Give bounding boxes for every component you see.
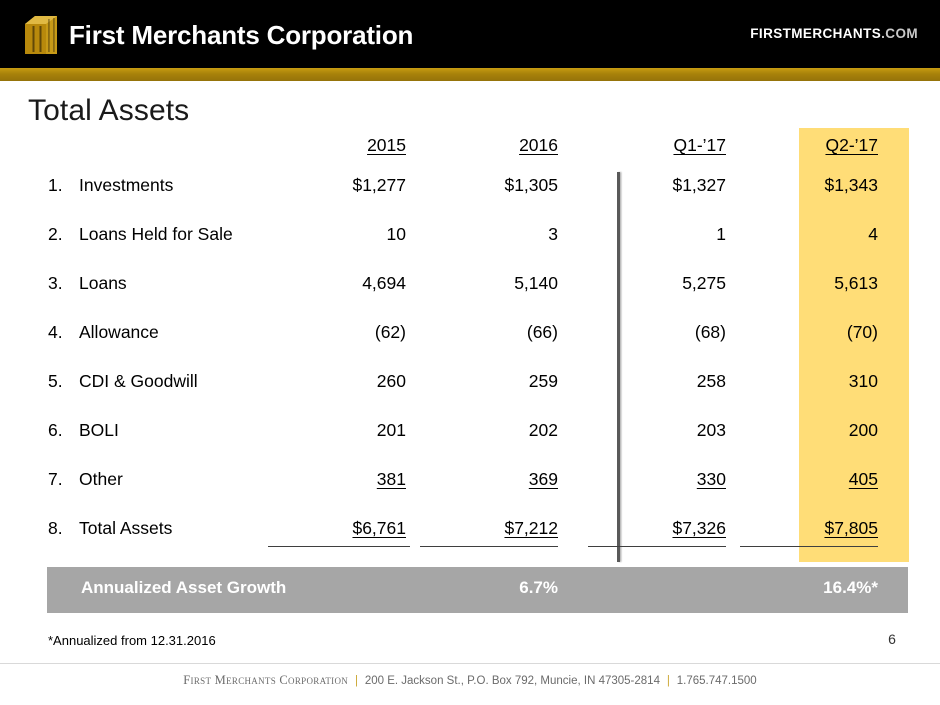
cell-q1-17: (68) <box>588 315 726 349</box>
row-label: BOLI <box>79 413 119 447</box>
cell-2016: (66) <box>420 315 558 349</box>
row-number: 4. <box>48 315 74 349</box>
cell-q1-17: 5,275 <box>588 266 726 300</box>
growth-bar-label: Annualized Asset Growth <box>81 578 286 598</box>
slide-footer: First Merchants Corporation|200 E. Jacks… <box>0 673 940 688</box>
cell-2015: $1,277 <box>268 168 406 202</box>
cell-2016: $1,305 <box>420 168 558 202</box>
cell-q1-17: 1 <box>588 217 726 251</box>
footer-phone: 1.765.747.1500 <box>677 675 757 687</box>
cell-2016: 202 <box>420 413 558 447</box>
table-row-total: 8. Total Assets $6,761 $7,212 $7,326 $7,… <box>0 511 940 560</box>
brand-website-main: FIRSTMERCHANTS <box>750 26 881 41</box>
cell-q1-17: 330 <box>588 462 726 496</box>
table-header-row: 2015 2016 Q1-’17 Q2-’17 <box>0 128 940 168</box>
row-number: 1. <box>48 168 74 202</box>
row-number: 6. <box>48 413 74 447</box>
total-assets-table: 2015 2016 Q1-’17 Q2-’17 1. Investments $… <box>0 128 940 560</box>
row-label: Allowance <box>79 315 159 349</box>
table-row: 1. Investments $1,277 $1,305 $1,327 $1,3… <box>0 168 940 217</box>
cell-2015: 4,694 <box>268 266 406 300</box>
cell-2016: $7,212 <box>420 511 558 547</box>
footer-separator-2: | <box>660 673 677 687</box>
cell-2015: 201 <box>268 413 406 447</box>
cell-2016: 259 <box>420 364 558 398</box>
gold-accent-band <box>0 68 940 81</box>
footer-separator-1: | <box>348 673 365 687</box>
column-header-2016: 2016 <box>420 128 558 162</box>
table-row: 7. Other 381 369 330 405 <box>0 462 940 511</box>
column-header-2015: 2015 <box>268 128 406 162</box>
cell-q2-17: 5,613 <box>740 266 878 300</box>
cell-q1-17: 258 <box>588 364 726 398</box>
annualized-asset-growth-bar: Annualized Asset Growth 6.7% 16.4%* <box>47 567 908 613</box>
slide-header-bar: First Merchants Corporation FIRSTMERCHAN… <box>0 0 940 68</box>
gold-cube-logo-icon <box>22 13 60 57</box>
page-number: 6 <box>880 631 904 647</box>
table-row: 6. BOLI 201 202 203 200 <box>0 413 940 462</box>
growth-value-2016: 6.7% <box>420 578 558 598</box>
brand-logo: First Merchants Corporation <box>22 13 413 57</box>
cell-2016: 369 <box>420 462 558 496</box>
row-label: CDI & Goodwill <box>79 364 198 398</box>
cell-q1-17: 203 <box>588 413 726 447</box>
cell-q1-17: $7,326 <box>588 511 726 547</box>
table-row: 4. Allowance (62) (66) (68) (70) <box>0 315 940 364</box>
page-title: Total Assets <box>28 94 189 128</box>
cell-q1-17: $1,327 <box>588 168 726 202</box>
row-label: Loans Held for Sale <box>79 217 233 251</box>
cell-q2-17: 200 <box>740 413 878 447</box>
cell-q2-17: $7,805 <box>740 511 878 547</box>
row-number: 3. <box>48 266 74 300</box>
column-header-q2-17: Q2-’17 <box>740 128 878 162</box>
cell-2016: 3 <box>420 217 558 251</box>
cell-2015: 260 <box>268 364 406 398</box>
cell-2016: 5,140 <box>420 266 558 300</box>
cell-q2-17: 310 <box>740 364 878 398</box>
row-label: Total Assets <box>79 511 172 545</box>
footer-divider <box>0 663 940 664</box>
cell-q2-17: 405 <box>740 462 878 496</box>
brand-website: FIRSTMERCHANTS.COM <box>750 26 918 41</box>
cell-2015: (62) <box>268 315 406 349</box>
row-number: 5. <box>48 364 74 398</box>
cell-2015: 381 <box>268 462 410 496</box>
row-number: 8. <box>48 511 74 545</box>
row-label: Investments <box>79 168 173 202</box>
column-header-q1-17: Q1-’17 <box>588 128 726 162</box>
brand-company-name: First Merchants Corporation <box>69 13 413 57</box>
cell-q2-17: 4 <box>740 217 878 251</box>
row-number: 2. <box>48 217 74 251</box>
row-number: 7. <box>48 462 74 496</box>
row-label: Loans <box>79 266 127 300</box>
cell-q2-17: $1,343 <box>740 168 878 202</box>
table-row: 5. CDI & Goodwill 260 259 258 310 <box>0 364 940 413</box>
growth-value-q2-17: 16.4%* <box>740 578 878 598</box>
footer-company-name: First Merchants Corporation <box>183 673 348 687</box>
table-row: 2. Loans Held for Sale 10 3 1 4 <box>0 217 940 266</box>
footer-address: 200 E. Jackson St., P.O. Box 792, Muncie… <box>365 675 660 687</box>
table-row: 3. Loans 4,694 5,140 5,275 5,613 <box>0 266 940 315</box>
brand-website-tld: .COM <box>881 26 918 41</box>
cell-q2-17: (70) <box>740 315 878 349</box>
cell-2015: 10 <box>268 217 406 251</box>
cell-2015: $6,761 <box>268 511 410 547</box>
footnote: *Annualized from 12.31.2016 <box>48 633 216 648</box>
row-label: Other <box>79 462 123 496</box>
